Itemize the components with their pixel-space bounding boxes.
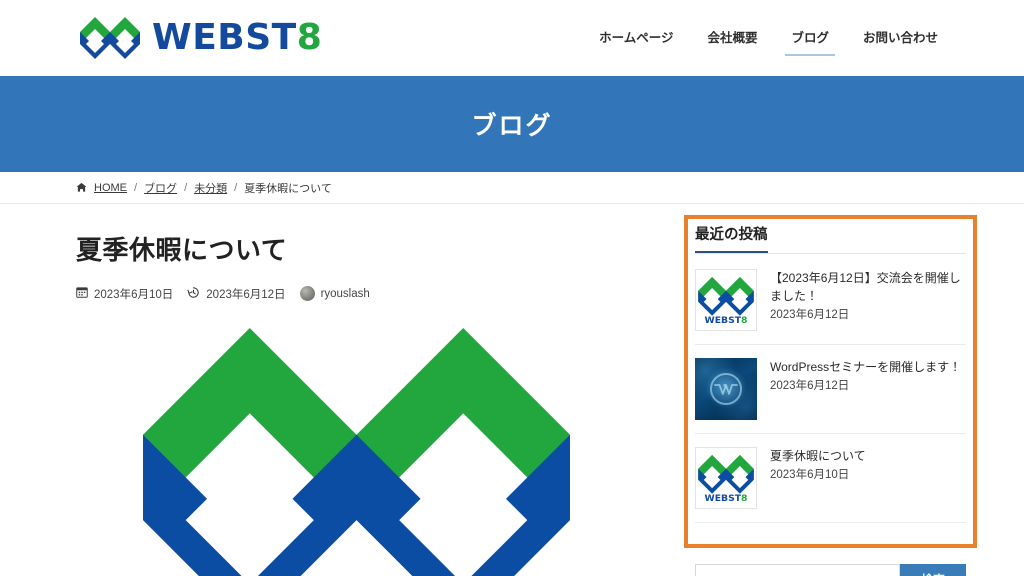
webst8-logo-mark-icon — [143, 328, 570, 576]
breadcrumb-separator: / — [234, 182, 237, 194]
list-item[interactable]: WEBST8 【2023年6月12日】交流会を開催しました！ 2023年6月12… — [695, 256, 966, 345]
webst8-logo-thumbnail-icon: WEBST8 — [695, 269, 757, 331]
list-item-body: 【2023年6月12日】交流会を開催しました！ 2023年6月12日 — [770, 269, 966, 325]
widget-divider — [695, 253, 966, 254]
breadcrumb: HOME / ブログ / 未分類 / 夏季休暇について — [0, 172, 1024, 204]
logo-word-8: 8 — [297, 17, 323, 58]
published-date-text: 2023年6月10日 — [94, 286, 173, 302]
page-title: ブログ — [471, 106, 552, 142]
webst8-w-logo-icon — [80, 17, 140, 59]
breadcrumb-item-home[interactable]: HOME — [94, 182, 127, 194]
search-input[interactable] — [695, 564, 900, 576]
updated-date-text: 2023年6月12日 — [206, 286, 285, 302]
site-header: WEBST8 ホームページ 会社概要 ブログ お問い合わせ — [0, 0, 1024, 76]
sidebar: 最近の投稿 WEBST8 — [676, 204, 977, 576]
calendar-icon — [76, 286, 88, 301]
updated-date: 2023年6月12日 — [187, 286, 285, 302]
recent-posts-title: 最近の投稿 — [695, 223, 966, 253]
webst8-logo-thumbnail-icon: WEBST8 — [695, 447, 757, 509]
article-meta: 2023年6月10日 2023年6月12日 ryouslash — [76, 286, 636, 302]
content-area: 夏季休暇について 2023年6月10日 — [0, 204, 1024, 576]
svg-text:WEBST8: WEBST8 — [705, 493, 748, 503]
breadcrumb-separator: / — [184, 182, 187, 194]
list-item[interactable]: WEBST8 夏季休暇について 2023年6月10日 — [695, 434, 966, 523]
recent-posts-widget: 最近の投稿 WEBST8 — [695, 223, 966, 523]
breadcrumb-separator: / — [134, 182, 137, 194]
search-widget: 検索 — [695, 564, 966, 576]
wordpress-seminar-thumbnail-icon — [695, 358, 757, 420]
nav-item-blog[interactable]: ブログ — [789, 21, 831, 56]
page-root: WEBST8 ホームページ 会社概要 ブログ お問い合わせ ブログ HOME /… — [0, 0, 1024, 576]
history-clock-icon — [187, 286, 200, 302]
post-title[interactable]: 夏季休暇について — [770, 447, 966, 465]
article-title: 夏季休暇について — [76, 234, 636, 268]
breadcrumb-item-current: 夏季休暇について — [244, 180, 332, 196]
breadcrumb-item-uncategorized[interactable]: 未分類 — [194, 180, 227, 196]
home-icon — [76, 182, 87, 193]
recent-posts-list: WEBST8 【2023年6月12日】交流会を開催しました！ 2023年6月12… — [695, 256, 966, 523]
list-item[interactable]: WordPressセミナーを開催します！ 2023年6月12日 — [695, 345, 966, 434]
list-item-body: WordPressセミナーを開催します！ 2023年6月12日 — [770, 358, 966, 395]
post-date: 2023年6月12日 — [770, 378, 966, 395]
article-author: ryouslash — [300, 286, 370, 301]
page-banner: ブログ — [0, 76, 1024, 172]
post-title[interactable]: 【2023年6月12日】交流会を開催しました！ — [770, 269, 966, 305]
search-button[interactable]: 検索 — [900, 564, 966, 576]
nav-item-contact[interactable]: お問い合わせ — [861, 21, 940, 56]
post-title[interactable]: WordPressセミナーを開催します！ — [770, 358, 966, 376]
avatar — [300, 286, 315, 301]
svg-text:WEBST8: WEBST8 — [705, 315, 748, 325]
logo-word-webst: WEBST — [152, 17, 297, 58]
breadcrumb-item-blog[interactable]: ブログ — [144, 180, 177, 196]
site-logo[interactable]: WEBST8 — [80, 17, 322, 59]
list-item-body: 夏季休暇について 2023年6月10日 — [770, 447, 966, 484]
post-date: 2023年6月10日 — [770, 467, 966, 484]
main-navigation: ホームページ 会社概要 ブログ お問い合わせ — [597, 21, 976, 56]
nav-item-homepage[interactable]: ホームページ — [597, 21, 675, 56]
post-date: 2023年6月12日 — [770, 307, 966, 324]
article: 夏季休暇について 2023年6月10日 — [76, 204, 636, 576]
nav-item-company[interactable]: 会社概要 — [705, 21, 759, 56]
published-date: 2023年6月10日 — [76, 286, 173, 302]
article-featured-image — [76, 328, 636, 576]
logo-wordmark: WEBST8 — [152, 20, 322, 56]
author-name: ryouslash — [321, 288, 370, 300]
